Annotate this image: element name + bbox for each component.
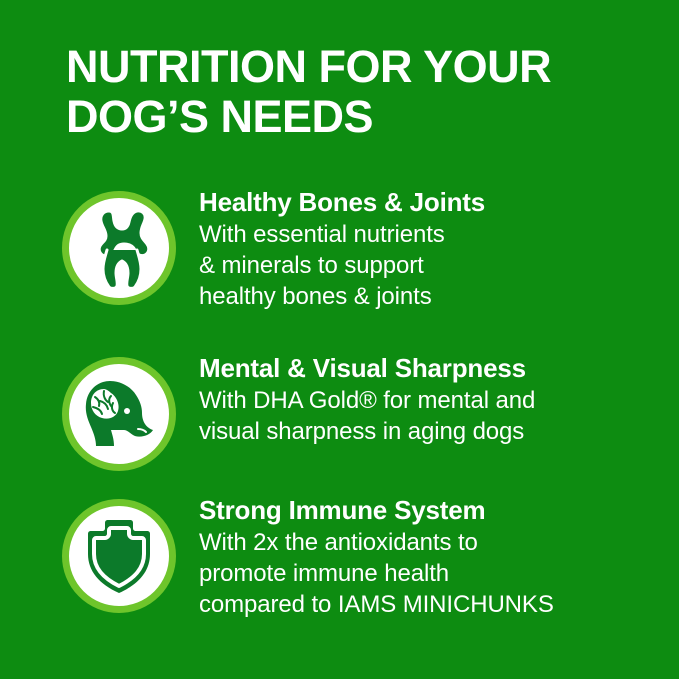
bone-joint-icon-badge — [62, 191, 176, 305]
benefit-description: With 2x the antioxidants to promote immu… — [199, 527, 669, 620]
shield-icon — [81, 516, 157, 596]
dog-head-brain-icon-badge — [62, 357, 176, 471]
dog-head-brain-icon — [80, 377, 158, 451]
benefit-line: With 2x the antioxidants to — [199, 527, 669, 558]
benefit-text-mental-visual: Mental & Visual Sharpness With DHA Gold®… — [199, 352, 669, 447]
benefit-description: With essential nutrients & minerals to s… — [199, 219, 669, 312]
shield-icon-badge — [62, 499, 176, 613]
benefit-line: visual sharpness in aging dogs — [199, 416, 669, 447]
benefit-line: promote immune health — [199, 558, 669, 589]
benefit-line: & minerals to support — [199, 250, 669, 281]
benefit-title: Strong Immune System — [199, 494, 669, 526]
benefit-title: Healthy Bones & Joints — [199, 186, 669, 218]
benefit-text-bones-joints: Healthy Bones & Joints With essential nu… — [199, 186, 669, 312]
benefit-line: With DHA Gold® for mental and — [199, 385, 669, 416]
headline-line-2: DOG’S NEEDS — [66, 92, 646, 142]
bone-joint-icon — [83, 205, 155, 291]
page-title: NUTRITION FOR YOUR DOG’S NEEDS — [66, 42, 646, 142]
benefit-line: healthy bones & joints — [199, 281, 669, 312]
benefit-description: With DHA Gold® for mental and visual sha… — [199, 385, 669, 447]
promo-panel: NUTRITION FOR YOUR DOG’S NEEDS Healthy B… — [0, 0, 679, 679]
benefit-line: compared to IAMS MINICHUNKS — [199, 589, 669, 620]
benefit-text-immune-system: Strong Immune System With 2x the antioxi… — [199, 494, 669, 620]
headline-line-1: NUTRITION FOR YOUR — [66, 42, 646, 92]
benefit-line: With essential nutrients — [199, 219, 669, 250]
benefit-title: Mental & Visual Sharpness — [199, 352, 669, 384]
